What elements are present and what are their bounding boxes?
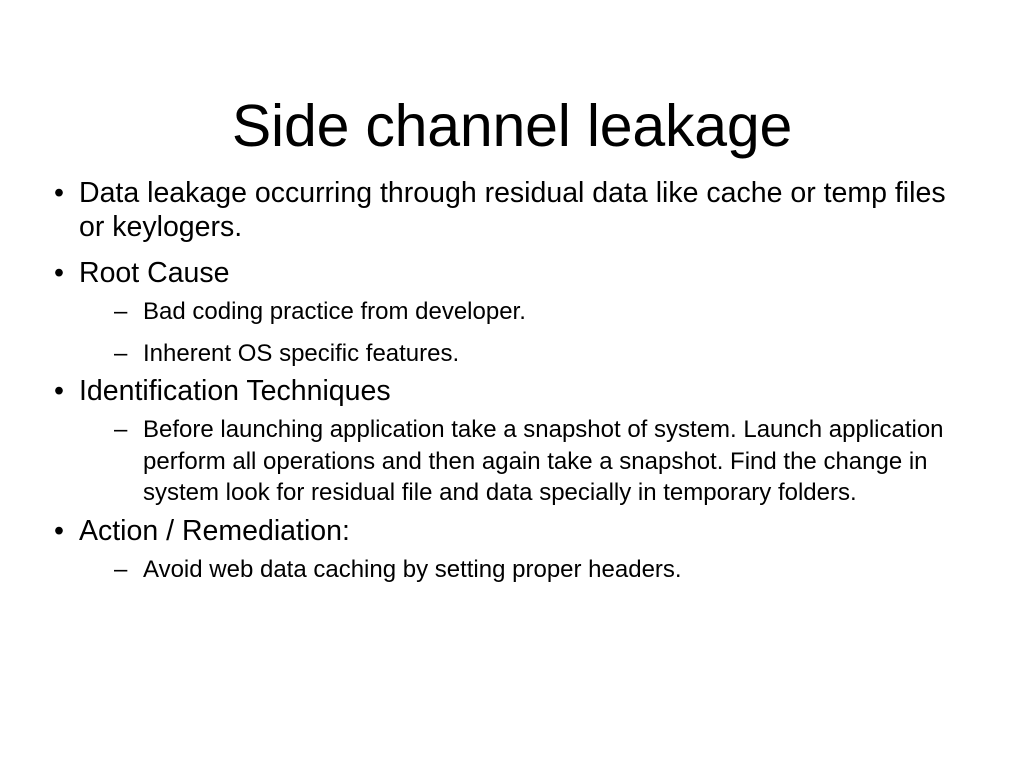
list-item-label: Inherent OS specific features. (143, 338, 952, 370)
list-item: • Action / Remediation: – Avoid web data… (42, 514, 952, 586)
bullet-list: • Data leakage occurring through residua… (42, 176, 952, 585)
sub-bullet-list: – Bad coding practice from developer. – … (79, 296, 952, 369)
slide-body: • Data leakage occurring through residua… (42, 176, 952, 590)
bullet-dot-icon: • (54, 514, 64, 548)
bullet-dash-icon: – (114, 296, 127, 328)
page-title: Side channel leakage (48, 92, 976, 160)
sub-bullet-list: – Before launching application take a sn… (79, 414, 952, 509)
list-item: – Inherent OS specific features. (110, 338, 952, 370)
presentation-slide: Side channel leakage • Data leakage occu… (0, 0, 1024, 768)
list-item-label: Data leakage occurring through residual … (79, 176, 952, 244)
bullet-dot-icon: • (54, 256, 64, 290)
list-item-label: Identification Techniques (79, 374, 952, 408)
list-item: – Bad coding practice from developer. (110, 296, 952, 328)
bullet-dash-icon: – (114, 338, 127, 370)
bullet-dot-icon: • (54, 176, 64, 210)
list-item: • Data leakage occurring through residua… (42, 176, 952, 244)
list-item-label: Action / Remediation: (79, 514, 952, 548)
list-item: – Avoid web data caching by setting prop… (110, 554, 952, 586)
bullet-dash-icon: – (114, 554, 127, 586)
list-item-label: Bad coding practice from developer. (143, 296, 952, 328)
list-item: – Before launching application take a sn… (110, 414, 952, 509)
bullet-dot-icon: • (54, 374, 64, 408)
list-item-label: Avoid web data caching by setting proper… (143, 554, 952, 586)
list-item: • Identification Techniques – Before lau… (42, 374, 952, 509)
sub-bullet-list: – Avoid web data caching by setting prop… (79, 554, 952, 586)
list-item-label: Root Cause (79, 256, 952, 290)
list-item: • Root Cause – Bad coding practice from … (42, 256, 952, 369)
bullet-dash-icon: – (114, 414, 127, 446)
list-item-label: Before launching application take a snap… (143, 414, 952, 509)
